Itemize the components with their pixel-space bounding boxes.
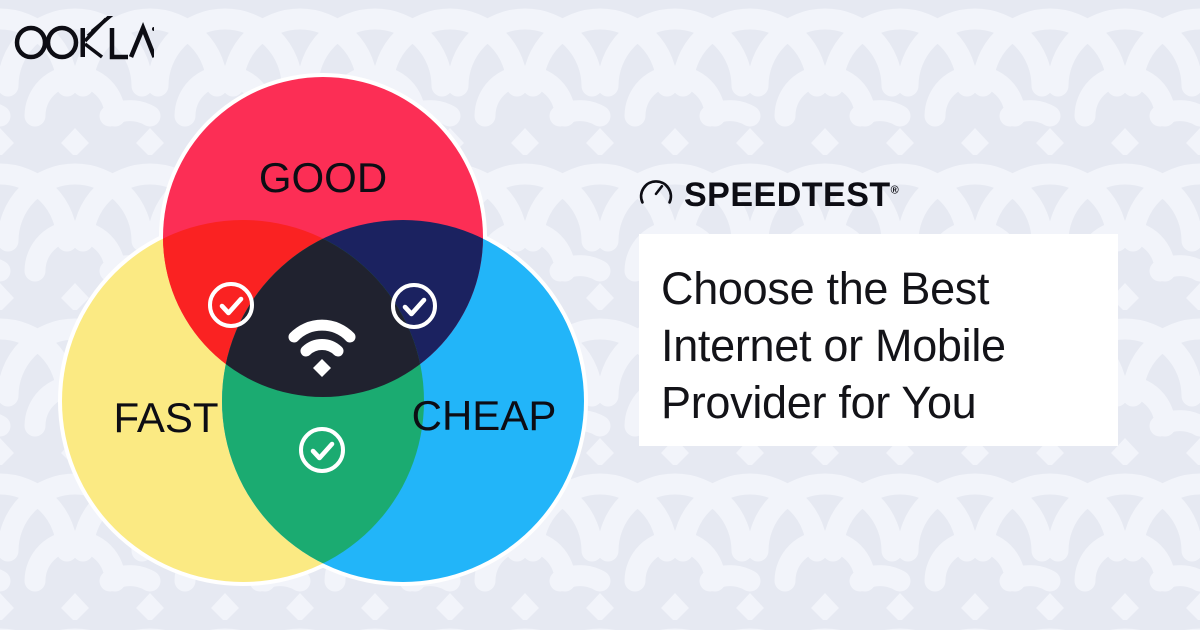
right-content-panel: SPEEDTEST® Choose the Best Internet or M… xyxy=(639,172,1119,446)
speedtest-wordmark-text: SPEEDTEST xyxy=(684,176,891,214)
headline-card: Choose the Best Internet or Mobile Provi… xyxy=(639,234,1118,446)
ookla-letter-k-rays xyxy=(85,16,114,57)
venn-label-cheap: CHEAP xyxy=(412,392,557,439)
ookla-letter-o1 xyxy=(17,28,45,57)
ookla-letter-a xyxy=(131,28,154,57)
speedtest-registered-mark: ® xyxy=(891,185,899,197)
ookla-letter-o2 xyxy=(48,28,76,57)
ookla-letter-l xyxy=(112,28,128,57)
ookla-logo xyxy=(14,16,154,67)
venn-label-good: GOOD xyxy=(259,154,387,201)
speedometer-gauge-icon xyxy=(639,176,673,215)
speedtest-logo: SPEEDTEST® xyxy=(639,172,1119,218)
venn-label-fast: FAST xyxy=(113,394,218,441)
page-title: Choose the Best Internet or Mobile Provi… xyxy=(661,260,1118,431)
poster-canvas: GOOD FAST CHEAP xyxy=(0,0,1200,630)
speedtest-wordmark: SPEEDTEST® xyxy=(684,178,899,212)
ookla-registered-mark xyxy=(152,27,154,31)
ookla-letter-k-stem xyxy=(81,28,86,57)
